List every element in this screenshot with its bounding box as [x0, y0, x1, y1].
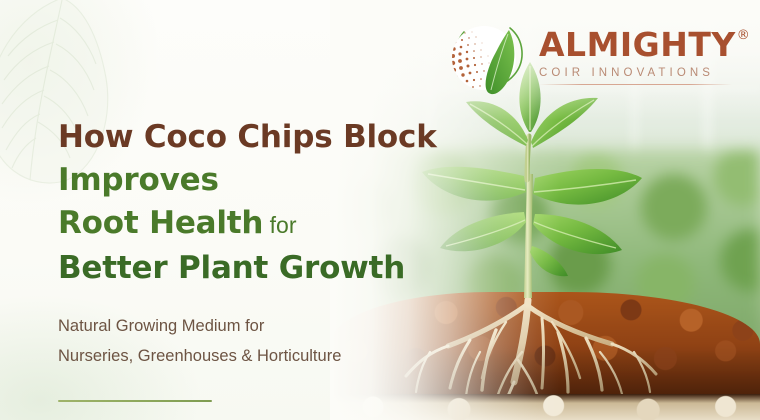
- headline-line-1: How Coco Chips Block: [58, 116, 458, 159]
- coir-bottom-layer: [330, 394, 760, 420]
- brand-tagline: COIR INNOVATIONS: [539, 67, 750, 79]
- brand-underline-rule: [539, 84, 732, 85]
- headline-line-3: Root Health for: [58, 202, 458, 247]
- headline-line-3-suffix: for: [263, 212, 296, 238]
- promotional-banner: ALMIGHTY ® COIR INNOVATIONS How Coco Chi…: [0, 0, 760, 420]
- headline-line-3-main: Root Health: [58, 205, 263, 241]
- subheadline-line-1: Natural Growing Medium for: [58, 311, 458, 341]
- brand-logo[interactable]: ALMIGHTY ® COIR INNOVATIONS: [446, 14, 750, 98]
- headline-block: How Coco Chips Block Improves Root Healt…: [58, 116, 458, 371]
- headline-line-2: Improves: [58, 159, 458, 202]
- subheadline-line-2: Nurseries, Greenhouses & Horticulture: [58, 341, 458, 371]
- logo-wordmark: ALMIGHTY ® COIR INNOVATIONS: [539, 28, 750, 85]
- brand-name: ALMIGHTY: [539, 28, 736, 61]
- accent-rule: [58, 400, 212, 402]
- page-title: How Coco Chips Block Improves Root Healt…: [58, 116, 458, 290]
- registered-trademark-icon: ®: [737, 29, 750, 42]
- headline-line-4: Better Plant Growth: [58, 247, 458, 290]
- halftone-sphere-leaf-logo-icon: [446, 14, 530, 98]
- subheadline: Natural Growing Medium for Nurseries, Gr…: [58, 290, 458, 371]
